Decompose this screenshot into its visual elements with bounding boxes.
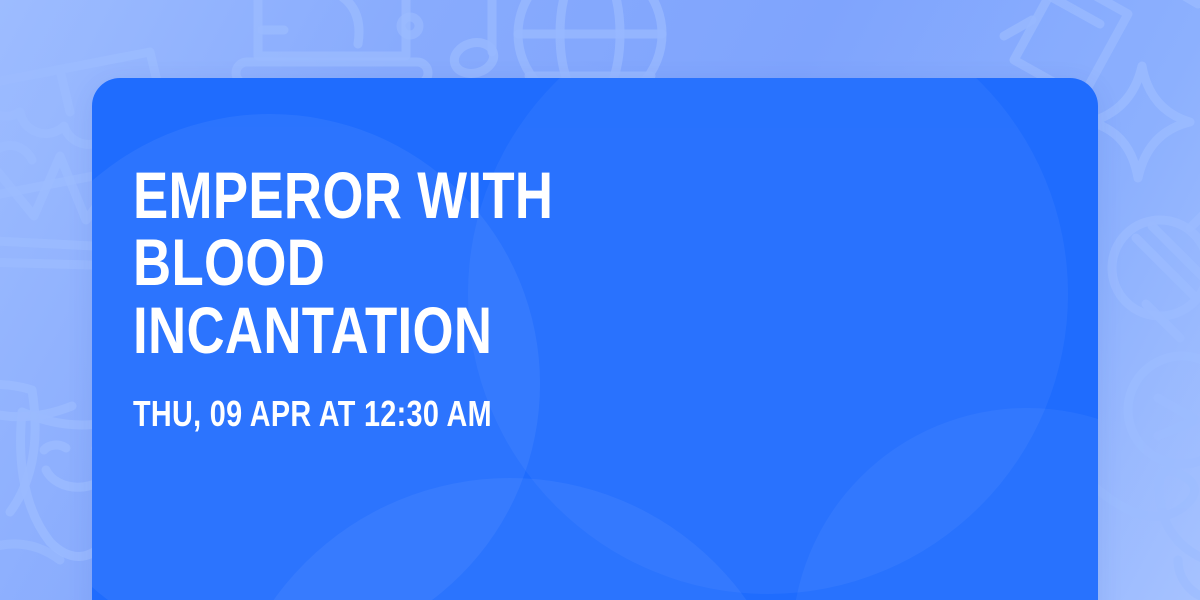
- event-banner: EMPEROR WITH BLOOD INCANTATION THU, 09 A…: [0, 0, 1200, 600]
- event-date: THU, 09 APR AT 12:30 AM: [133, 393, 492, 435]
- card-content: EMPEROR WITH BLOOD INCANTATION THU, 09 A…: [133, 78, 1058, 600]
- event-title: EMPEROR WITH BLOOD INCANTATION: [133, 162, 741, 364]
- microphone-icon: [1112, 202, 1200, 338]
- event-card[interactable]: EMPEROR WITH BLOOD INCANTATION THU, 09 A…: [92, 78, 1098, 600]
- laptop-icon: [236, 0, 428, 84]
- music-note-icon: [451, 0, 530, 78]
- swirl-icon: [0, 544, 60, 560]
- ruler-icon: [1082, 0, 1198, 4]
- dot-icon: [401, 17, 419, 35]
- sparkle-icon: [1090, 66, 1190, 178]
- squiggle-line-icon: [1096, 471, 1200, 600]
- medal-icon: [1128, 356, 1200, 464]
